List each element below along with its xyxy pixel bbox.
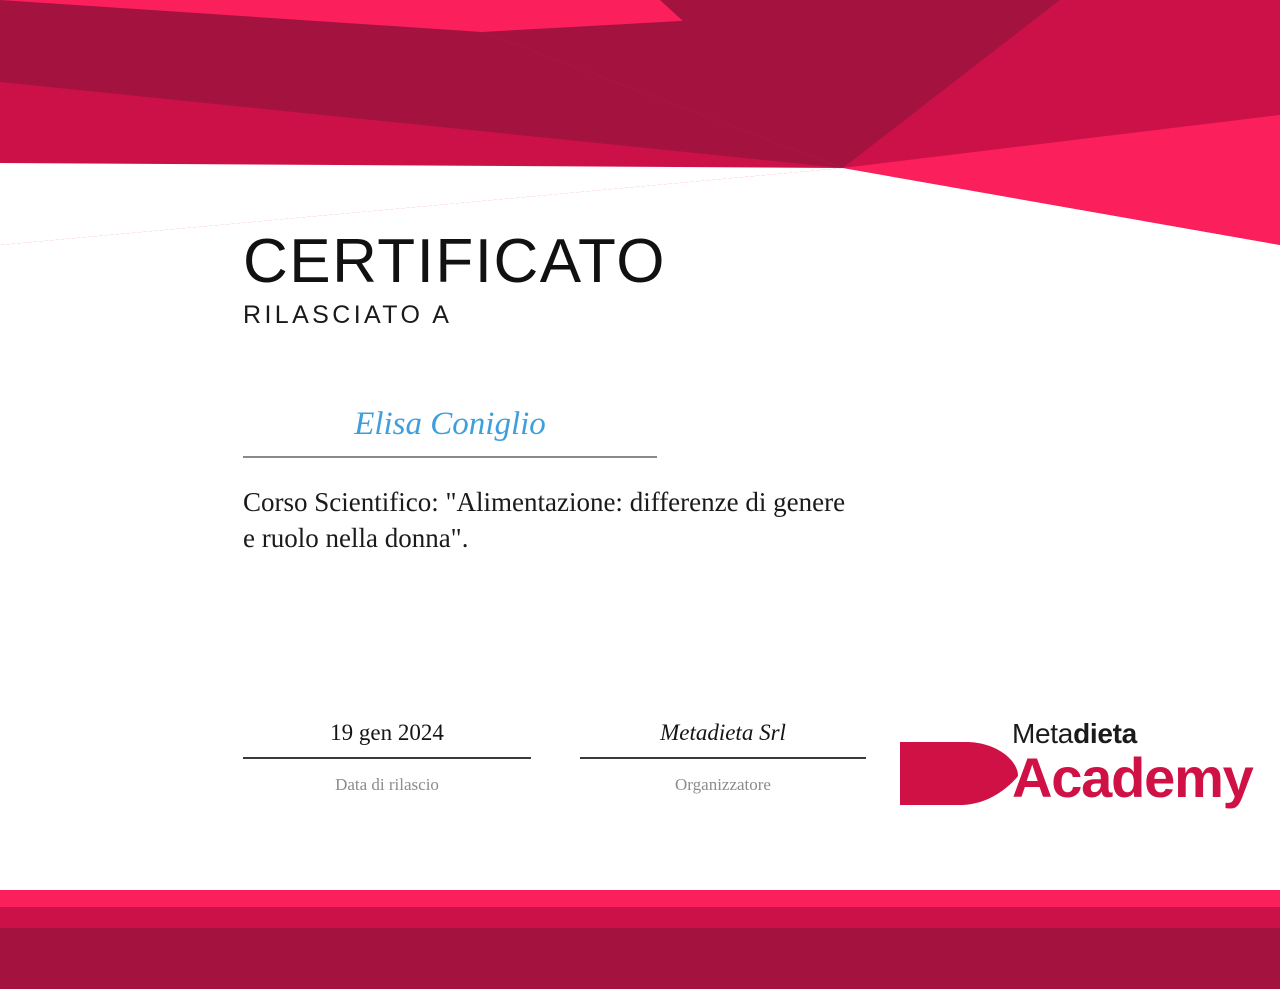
organizer-field: Metadieta Srl Organizzatore bbox=[580, 718, 866, 796]
issue-date-rule bbox=[243, 757, 531, 759]
organizer-rule bbox=[580, 757, 866, 759]
logo-text-dieta: dieta bbox=[1073, 718, 1137, 749]
recipient-name: Elisa Coniglio bbox=[243, 404, 657, 444]
title-block: CERTIFICATO RILASCIATO A bbox=[243, 228, 666, 330]
organizer-label: Organizzatore bbox=[580, 774, 866, 796]
certificate-document: CERTIFICATO RILASCIATO A Elisa Coniglio … bbox=[0, 0, 1280, 989]
logo-text-meta: Meta bbox=[1012, 718, 1073, 749]
metadieta-academy-logo: Metadieta Academy bbox=[900, 718, 1235, 813]
logo-text-academy: Academy bbox=[1012, 748, 1253, 808]
recipient-block: Elisa Coniglio bbox=[243, 404, 657, 458]
leaf-mark-icon bbox=[900, 742, 1018, 805]
course-block: Corso Scientifico: "Alimentazione: diffe… bbox=[243, 484, 863, 556]
issue-date-value: 19 gen 2024 bbox=[243, 718, 531, 748]
recipient-rule bbox=[243, 456, 657, 458]
page-title: CERTIFICATO bbox=[243, 228, 666, 296]
issue-date-field: 19 gen 2024 Data di rilascio bbox=[243, 718, 531, 796]
organizer-value: Metadieta Srl bbox=[580, 718, 866, 748]
certificate-body: CERTIFICATO RILASCIATO A Elisa Coniglio … bbox=[0, 0, 1280, 989]
logo-wordmark: Metadieta Academy bbox=[1012, 718, 1253, 808]
page-subtitle: RILASCIATO A bbox=[243, 300, 666, 330]
issue-date-label: Data di rilascio bbox=[243, 774, 531, 796]
course-description: Corso Scientifico: "Alimentazione: diffe… bbox=[243, 484, 863, 556]
